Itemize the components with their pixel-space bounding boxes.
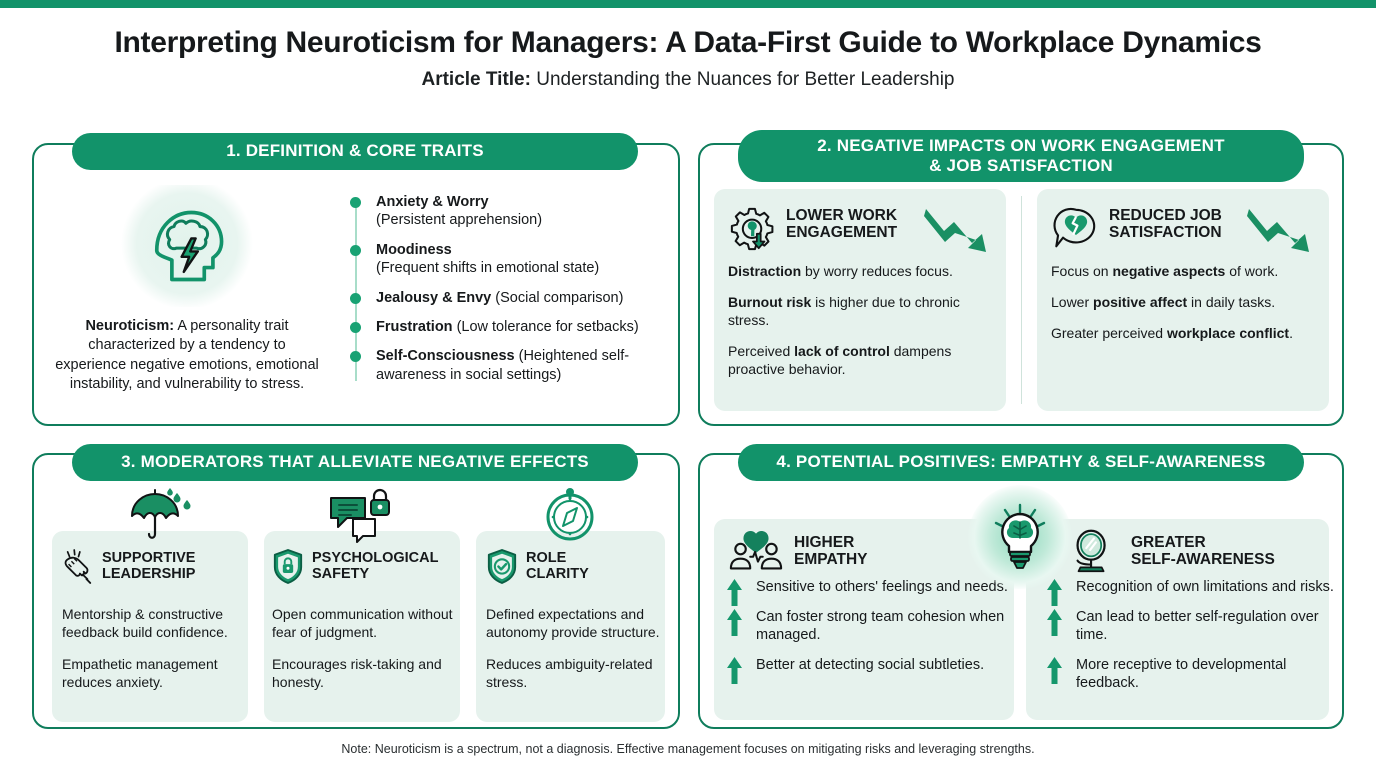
list-item: Anxiety & Worry(Persistent apprehension) [350, 193, 665, 230]
card-title-line1: GREATER [1131, 534, 1206, 551]
bold-term: negative aspects [1112, 263, 1225, 279]
panel1-trait-list: Anxiety & Worry(Persistent apprehension)… [350, 193, 665, 384]
up-arrow-icon [1046, 578, 1063, 608]
card-title: ROLECLARITY [526, 550, 589, 582]
top-accent-bar [0, 0, 1376, 8]
card-title-line2: ENGAGEMENT [786, 224, 897, 241]
card-title: SUPPORTIVELEADERSHIP [102, 550, 195, 582]
bullet-text: Burnout risk is higher due to chronic st… [728, 294, 992, 330]
card-title: PSYCHOLOGICALSAFETY [312, 550, 438, 582]
card-title-line1: ROLE [526, 550, 566, 566]
trait-detail: (Low tolerance for setbacks) [457, 319, 639, 335]
list-item: Jealousy & Envy (Social comparison) [350, 289, 665, 307]
bullet-text: Lower positive affect in daily tasks. [1051, 294, 1315, 312]
trait-detail: (Persistent apprehension) [376, 212, 542, 228]
rest-text: in daily tasks. [1187, 294, 1275, 310]
rest-text: of work. [1225, 263, 1278, 279]
card-title-line1: PSYCHOLOGICAL [312, 550, 438, 566]
list-item: Can lead to better self-regulation over … [1046, 608, 1336, 645]
lead-text: Perceived [728, 343, 794, 359]
bullet-dot-icon [350, 293, 361, 304]
people-heart-pulse-icon [728, 528, 784, 574]
trait-name: Frustration [376, 319, 453, 335]
panel4-header-pill: 4. POTENTIAL POSITIVES: EMPATHY & SELF-A… [738, 444, 1304, 481]
definition-label: Neuroticism: [85, 318, 174, 334]
page-subtitle: Article Title: Understanding the Nuances… [0, 69, 1376, 92]
item-text: Can foster strong team cohesion when man… [756, 609, 1004, 644]
shield-lock-icon [272, 548, 304, 584]
card-header-role-clarity: ROLECLARITY [486, 548, 589, 584]
card-title-line1: REDUCED JOB [1109, 207, 1222, 224]
lightbulb-brain-icon [968, 485, 1072, 589]
footer-note: Note: Neuroticism is a spectrum, not a d… [0, 742, 1376, 756]
bullet-text: Defined expectations and autonomy provid… [486, 606, 666, 642]
item-text: Recognition of own limitations and risks… [1076, 579, 1334, 595]
panel1-definition-block: Neuroticism: A personality trait charact… [52, 185, 322, 394]
card-header-psychological-safety: PSYCHOLOGICALSAFETY [272, 548, 438, 584]
card-title-line2: LEADERSHIP [102, 566, 195, 582]
panel2-header-pill: 2. NEGATIVE IMPACTS ON WORK ENGAGEMENT& … [738, 130, 1304, 182]
subtitle-text: Understanding the Nuances for Better Lea… [531, 69, 955, 90]
card-body-role-clarity: Defined expectations and autonomy provid… [486, 606, 666, 692]
list-item: Better at detecting social subtleties. [726, 656, 1014, 675]
umbrella-rain-icon [124, 486, 194, 544]
bullet-text: Reduces ambiguity-related stress. [486, 656, 666, 692]
up-arrow-icon [1046, 608, 1063, 638]
card-title-line2: SELF-AWARENESS [1131, 551, 1275, 568]
page-title: Interpreting Neuroticism for Managers: A… [0, 26, 1376, 61]
panel1-definition-text: Neuroticism: A personality trait charact… [52, 317, 322, 394]
page-header: Interpreting Neuroticism for Managers: A… [0, 26, 1376, 91]
list-item: Sensitive to others' feelings and needs. [726, 578, 1014, 597]
bullet-dot-icon [350, 245, 361, 256]
bullet-dot-icon [350, 322, 361, 333]
card-reduced-job-satisfaction: REDUCED JOBSATISFACTION Focus on negativ… [1037, 189, 1329, 411]
bullet-text: Mentorship & constructive feedback build… [62, 606, 250, 642]
card-body-psychological-safety: Open communication without fear of judgm… [272, 606, 460, 692]
vanity-mirror-icon [1065, 528, 1121, 574]
bold-term: lack of control [794, 343, 890, 359]
item-text: Better at detecting social subtleties. [756, 657, 984, 673]
lead-text: Lower [1051, 294, 1093, 310]
gear-wrench-down-arrow-icon [728, 205, 778, 253]
list-item: Recognition of own limitations and risks… [1046, 578, 1336, 597]
brain-head-lightning-icon [121, 185, 253, 307]
trait-detail: (Frequent shifts in emotional state) [376, 260, 599, 276]
trait-name: Jealousy & Envy [376, 290, 491, 306]
card-header: LOWER WORKENGAGEMENT [728, 203, 992, 261]
rest-text: . [1289, 325, 1293, 341]
shield-check-icon [486, 548, 518, 584]
card-title-line2: SAFETY [312, 566, 369, 582]
card-header-greater-self-awareness: GREATERSELF-AWARENESS [1065, 528, 1275, 574]
card-header-supportive-leadership: SUPPORTIVELEADERSHIP [62, 548, 195, 584]
bullet-text: Distraction by worry reduces focus. [728, 263, 992, 281]
list-item: More receptive to developmental feedback… [1046, 656, 1336, 693]
bullet-text: Greater perceived workplace conflict. [1051, 325, 1315, 343]
subtitle-label: Article Title: [421, 69, 530, 90]
up-arrow-icon [1046, 656, 1063, 686]
card-title-line1: SUPPORTIVE [102, 550, 195, 566]
list-greater-self-awareness: Recognition of own limitations and risks… [1046, 578, 1336, 693]
list-item: Self-Consciousness (Heightened self-awar… [350, 347, 665, 384]
card-title-line2: SATISFACTION [1109, 224, 1222, 241]
broken-heart-speech-bubble-icon [1051, 205, 1101, 253]
list-item: Can foster strong team cohesion when man… [726, 608, 1014, 645]
card-title-line1: HIGHER [794, 534, 854, 551]
compass-icon [535, 486, 605, 544]
panel2-pill-line2: & JOB SATISFACTION [929, 156, 1113, 175]
panel2-pill-line1: 2. NEGATIVE IMPACTS ON WORK ENGAGEMENT [817, 136, 1224, 155]
item-text: Sensitive to others' feelings and needs. [756, 579, 1008, 595]
card-body: Focus on negative aspects of work. Lower… [1051, 263, 1315, 343]
card-header: REDUCED JOBSATISFACTION [1051, 203, 1315, 261]
card-title-line2: CLARITY [526, 566, 589, 582]
card-lower-work-engagement: LOWER WORKENGAGEMENT Distraction by worr… [714, 189, 1006, 411]
item-text: More receptive to developmental feedback… [1076, 657, 1286, 692]
bullet-text: Open communication without fear of judgm… [272, 606, 460, 642]
card-body: Distraction by worry reduces focus. Burn… [728, 263, 992, 379]
card-header-higher-empathy: HIGHEREMPATHY [728, 528, 867, 574]
card-title-line1: LOWER WORK [786, 207, 897, 224]
trait-name: Self-Consciousness [376, 348, 515, 364]
bullet-text: Perceived lack of control dampens proact… [728, 343, 992, 379]
lead-text: Focus on [1051, 263, 1112, 279]
list-item: Frustration (Low tolerance for setbacks) [350, 318, 665, 336]
chat-bubbles-lock-icon [327, 486, 397, 544]
card-body-supportive-leadership: Mentorship & constructive feedback build… [62, 606, 250, 692]
card-title: REDUCED JOBSATISFACTION [1109, 207, 1222, 242]
lead-text: Greater perceived [1051, 325, 1167, 341]
handshake-icon [62, 548, 94, 584]
bold-term: Burnout risk [728, 294, 811, 310]
bold-term: Distraction [728, 263, 801, 279]
list-item: Moodiness(Frequent shifts in emotional s… [350, 241, 665, 278]
trait-name: Anxiety & Worry [376, 194, 489, 210]
bold-term: positive affect [1093, 294, 1187, 310]
bullet-dot-icon [350, 351, 361, 362]
card-title: GREATERSELF-AWARENESS [1131, 534, 1275, 569]
card-title: HIGHEREMPATHY [794, 534, 867, 569]
bullet-text: Focus on negative aspects of work. [1051, 263, 1315, 281]
up-arrow-icon [726, 578, 743, 608]
card-title-line2: EMPATHY [794, 551, 867, 568]
card-title: LOWER WORKENGAGEMENT [786, 207, 897, 242]
down-trend-arrow-icon [1243, 203, 1317, 259]
bullet-dot-icon [350, 197, 361, 208]
bullet-text: Empathetic management reduces anxiety. [62, 656, 250, 692]
down-trend-arrow-icon [920, 203, 994, 259]
up-arrow-icon [726, 656, 743, 686]
panel1-header-pill: 1. DEFINITION & CORE TRAITS [72, 133, 638, 170]
item-text: Can lead to better self-regulation over … [1076, 609, 1319, 644]
up-arrow-icon [726, 608, 743, 638]
bold-term: workplace conflict [1167, 325, 1289, 341]
bullet-text: Encourages risk-taking and honesty. [272, 656, 460, 692]
trait-detail: (Social comparison) [495, 290, 623, 306]
panel3-header-pill: 3. MODERATORS THAT ALLEVIATE NEGATIVE EF… [72, 444, 638, 481]
list-higher-empathy: Sensitive to others' feelings and needs.… [726, 578, 1014, 674]
trait-name: Moodiness [376, 242, 452, 258]
panel2-divider [1021, 196, 1022, 404]
rest-text: by worry reduces focus. [801, 263, 953, 279]
